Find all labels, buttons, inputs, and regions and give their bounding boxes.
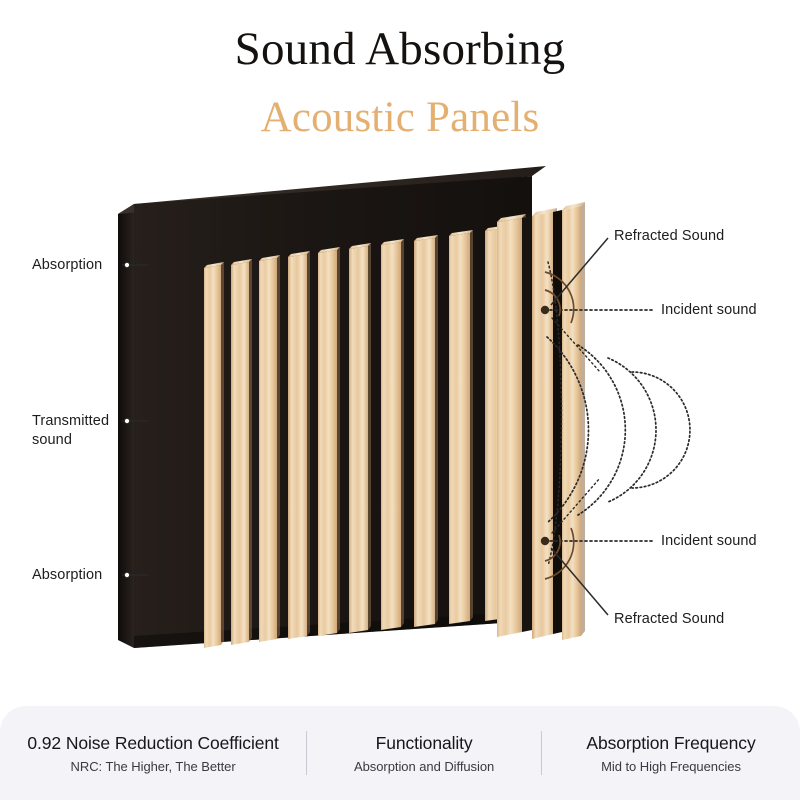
callout-refracted-sound-bottom: Refracted Sound [614,610,724,629]
spec-subtitle-frequency: Mid to High Frequencies [548,759,794,774]
slat [259,258,277,642]
slat-shadow [368,243,371,630]
slat [204,265,221,648]
wave-arc-2 [578,345,625,515]
callout-absorption-top: Absorption [32,256,102,275]
slat-shadow [277,255,280,639]
specification-bar: 0.92 Noise Reduction Coefficient NRC: Th… [0,706,800,800]
spec-column-frequency: Absorption Frequency Mid to High Frequen… [542,733,800,774]
slat [449,233,470,624]
product-illustration [0,0,800,700]
wave-arc-4 [632,372,690,488]
callout-incident-sound-bottom: Incident sound [661,532,757,551]
spec-title-frequency: Absorption Frequency [548,733,794,754]
callout-refracted-sound-top: Refracted Sound [614,227,724,246]
slat-shadow [337,247,340,633]
slat [497,218,522,637]
panel-slats [204,202,585,648]
spec-subtitle-functionality: Absorption and Diffusion [313,759,535,774]
slat-shadow [401,239,404,627]
spec-column-nrc: 0.92 Noise Reduction Coefficient NRC: Th… [0,733,306,774]
slat [231,262,249,645]
spec-column-functionality: Functionality Absorption and Diffusion [307,733,541,774]
slat [349,246,368,633]
slat [414,238,435,627]
slat-shadow [307,251,310,636]
spec-title-nrc: 0.92 Noise Reduction Coefficient [6,733,300,754]
wave-arc-3 [608,358,656,502]
slat [288,254,307,639]
spec-title-functionality: Functionality [313,733,535,754]
callout-absorption-bottom: Absorption [32,566,102,585]
slat [381,242,401,630]
spec-subtitle-nrc: NRC: The Higher, The Better [6,759,300,774]
callout-incident-sound-top: Incident sound [661,301,757,320]
slat-shadow [435,235,438,624]
slat-shadow [249,259,252,642]
slat [318,250,337,636]
infographic-page: Sound Absorbing Acoustic Panels [0,0,800,800]
slat [562,206,581,640]
callout-transmitted-sound: Transmitted sound [32,412,109,450]
slat-shadow [221,262,224,645]
slat [532,212,553,639]
slat-shadow [470,230,473,621]
acoustic-panel-diagram [0,0,800,700]
